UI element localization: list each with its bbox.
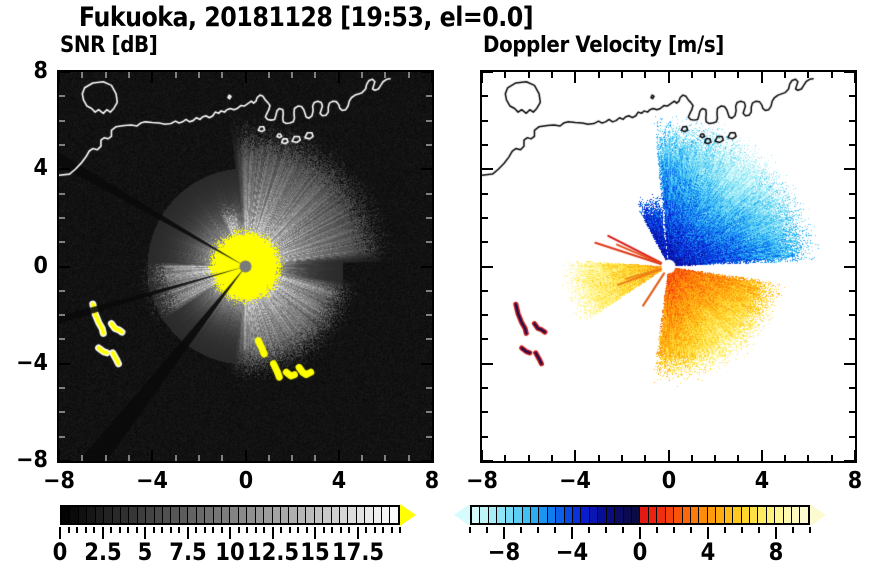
- y-major-tick: [59, 460, 70, 462]
- x-minor-tick: [737, 455, 739, 461]
- colorbar-cell: [113, 507, 121, 523]
- colorbar-cell: [539, 507, 547, 523]
- y-minor-tick: [426, 338, 432, 340]
- colorbar-cell: [480, 507, 488, 523]
- figure-title: Fukuoka, 20181128 [19:53, el=0.0]: [37, 2, 576, 33]
- x-axis-label-snr-0: −8: [37, 468, 82, 494]
- y-major-tick: [421, 266, 432, 268]
- y-major-tick: [421, 168, 432, 170]
- y-minor-tick: [426, 144, 432, 146]
- colorbar-minor-tick: [537, 527, 539, 533]
- x-minor-tick: [268, 455, 270, 461]
- radar-figure: Fukuoka, 20181128 [19:53, el=0.0] SNR [d…: [0, 0, 870, 570]
- colorbar-cell: [239, 507, 247, 523]
- y-minor-tick: [482, 241, 488, 243]
- snr-radar-image: [59, 72, 432, 461]
- colorbar-minor-tick: [673, 527, 675, 533]
- colorbar-minor-tick: [792, 527, 794, 533]
- y-major-tick: [421, 363, 432, 365]
- y-minor-tick: [482, 411, 488, 413]
- velocity-colorbar-under-arrow: [454, 504, 470, 526]
- x-major-tick: [854, 72, 856, 83]
- velocity-colorbar-over-arrow: [810, 504, 826, 526]
- colorbar-cell: [640, 507, 648, 523]
- colorbar-minor-tick: [246, 527, 248, 533]
- colorbar-minor-tick: [391, 527, 393, 533]
- colorbar-cell: [306, 507, 314, 523]
- y-minor-tick: [849, 338, 855, 340]
- colorbar-cell: [222, 507, 230, 523]
- x-minor-tick: [551, 72, 553, 78]
- colorbar-cell: [708, 507, 716, 523]
- y-minor-tick: [426, 387, 432, 389]
- colorbar-minor-tick: [306, 527, 308, 533]
- snr-colorbar-over-arrow: [400, 504, 416, 526]
- y-minor-tick: [426, 314, 432, 316]
- colorbar-cell: [205, 507, 213, 523]
- x-minor-tick: [408, 455, 410, 461]
- x-minor-tick: [528, 72, 530, 78]
- x-minor-tick: [737, 72, 739, 78]
- y-major-tick: [844, 363, 855, 365]
- y-minor-tick: [59, 314, 65, 316]
- colorbar-minor-tick: [170, 527, 172, 533]
- colorbar-cell: [163, 507, 171, 523]
- x-axis-label-snr-1: −4: [130, 468, 175, 494]
- colorbar-cell: [699, 507, 707, 523]
- x-minor-tick: [598, 72, 600, 78]
- snr-colorbar-gradient: [60, 505, 400, 525]
- y-minor-tick: [59, 290, 65, 292]
- colorbar-minor-tick: [136, 527, 138, 533]
- colorbar-cell: [247, 507, 255, 523]
- x-major-tick: [668, 72, 670, 83]
- x-axis-label-vel-2: 0: [646, 468, 691, 494]
- x-axis-label-snr-3: 4: [316, 468, 361, 494]
- colorbar-cell: [683, 507, 691, 523]
- x-minor-tick: [128, 455, 130, 461]
- x-minor-tick: [314, 72, 316, 78]
- y-major-tick: [844, 168, 855, 170]
- colorbar-cell: [289, 507, 297, 523]
- colorbar-minor-tick: [195, 527, 197, 533]
- colorbar-cell: [767, 507, 775, 523]
- colorbar-cell: [155, 507, 163, 523]
- x-minor-tick: [291, 455, 293, 461]
- x-minor-tick: [81, 72, 83, 78]
- y-major-tick: [482, 168, 493, 170]
- y-minor-tick: [59, 436, 65, 438]
- y-minor-tick: [482, 387, 488, 389]
- colorbar-minor-tick: [399, 527, 401, 533]
- plot-velocity[interactable]: [480, 70, 857, 463]
- x-minor-tick: [221, 72, 223, 78]
- x-minor-tick: [175, 455, 177, 461]
- x-minor-tick: [384, 455, 386, 461]
- colorbar-minor-tick: [809, 527, 811, 533]
- y-minor-tick: [849, 120, 855, 122]
- colorbar-cell: [742, 507, 750, 523]
- colorbar-minor-tick: [289, 527, 291, 533]
- x-minor-tick: [504, 455, 506, 461]
- x-minor-tick: [198, 72, 200, 78]
- y-minor-tick: [849, 217, 855, 219]
- colorbar-minor-tick: [622, 527, 624, 533]
- colorbar-cell: [230, 507, 238, 523]
- colorbar-minor-tick: [758, 527, 760, 533]
- colorbar-cell: [506, 507, 514, 523]
- x-axis-label-vel-1: −4: [553, 468, 598, 494]
- x-minor-tick: [528, 455, 530, 461]
- colorbar-minor-tick: [204, 527, 206, 533]
- colorbar-cell: [792, 507, 800, 523]
- x-minor-tick: [504, 72, 506, 78]
- colorbar-minor-tick: [263, 527, 265, 533]
- x-axis-label-snr-2: 0: [223, 468, 268, 494]
- panel-title-velocity: Doppler Velocity [m/s]: [483, 33, 724, 58]
- x-minor-tick: [221, 455, 223, 461]
- colorbar-minor-tick: [68, 527, 70, 533]
- x-minor-tick: [831, 455, 833, 461]
- y-minor-tick: [426, 120, 432, 122]
- x-minor-tick: [105, 455, 107, 461]
- colorbar-cell: [348, 507, 356, 523]
- colorbar-cell: [514, 507, 522, 523]
- colorbar-minor-tick: [486, 527, 488, 533]
- y-major-tick: [482, 363, 493, 365]
- colorbar-minor-tick: [93, 527, 95, 533]
- y-minor-tick: [849, 241, 855, 243]
- y-major-tick: [482, 460, 493, 462]
- colorbar-cell: [750, 507, 758, 523]
- y-minor-tick: [482, 338, 488, 340]
- x-minor-tick: [105, 72, 107, 78]
- x-minor-tick: [714, 455, 716, 461]
- y-minor-tick: [59, 193, 65, 195]
- x-minor-tick: [621, 72, 623, 78]
- y-axis-label-snr-2: 0: [10, 253, 48, 279]
- y-major-tick: [59, 71, 70, 73]
- y-minor-tick: [849, 144, 855, 146]
- y-minor-tick: [59, 411, 65, 413]
- y-minor-tick: [849, 314, 855, 316]
- x-major-tick: [151, 72, 153, 83]
- colorbar-cell: [121, 507, 129, 523]
- colorbar-cell: [197, 507, 205, 523]
- x-minor-tick: [408, 72, 410, 78]
- x-major-tick: [574, 450, 576, 461]
- colorbar-minor-tick: [741, 527, 743, 533]
- colorbar-cell: [666, 507, 674, 523]
- colorbar-minor-tick: [221, 527, 223, 533]
- y-minor-tick: [849, 436, 855, 438]
- y-minor-tick: [426, 290, 432, 292]
- x-minor-tick: [128, 72, 130, 78]
- colorbar-cell: [691, 507, 699, 523]
- velocity-radar-image: [482, 72, 855, 461]
- y-major-tick: [482, 266, 493, 268]
- y-major-tick: [59, 266, 70, 268]
- velocity-colorbar[interactable]: [470, 505, 810, 529]
- velocity-colorbar-label-4: 8: [745, 538, 807, 566]
- x-major-tick: [574, 72, 576, 83]
- colorbar-cell: [598, 507, 606, 523]
- colorbar-cell: [87, 507, 95, 523]
- colorbar-cell: [624, 507, 632, 523]
- colorbar-cell: [581, 507, 589, 523]
- colorbar-cell: [758, 507, 766, 523]
- velocity-colorbar-label-1: −4: [541, 538, 603, 566]
- colorbar-minor-tick: [724, 527, 726, 533]
- colorbar-cell: [523, 507, 531, 523]
- colorbar-minor-tick: [119, 527, 121, 533]
- y-minor-tick: [849, 95, 855, 97]
- x-axis-label-vel-0: −8: [460, 468, 505, 494]
- y-axis-label-snr-1: −4: [10, 350, 48, 376]
- velocity-colorbar-gradient: [470, 505, 810, 525]
- colorbar-minor-tick: [588, 527, 590, 533]
- colorbar-cell: [315, 507, 323, 523]
- x-minor-tick: [361, 72, 363, 78]
- y-axis-label-snr-3: 4: [10, 155, 48, 181]
- colorbar-minor-tick: [280, 527, 282, 533]
- velocity-colorbar-label-0: −8: [473, 538, 535, 566]
- colorbar-minor-tick: [605, 527, 607, 533]
- colorbar-cell: [374, 507, 382, 523]
- colorbar-cell: [725, 507, 733, 523]
- colorbar-cell: [298, 507, 306, 523]
- colorbar-minor-tick: [255, 527, 257, 533]
- x-minor-tick: [784, 455, 786, 461]
- y-minor-tick: [849, 411, 855, 413]
- colorbar-cell: [365, 507, 373, 523]
- x-axis-label-snr-4: 8: [410, 468, 455, 494]
- colorbar-cell: [256, 507, 264, 523]
- colorbar-cell: [615, 507, 623, 523]
- colorbar-cell: [129, 507, 137, 523]
- colorbar-cell: [573, 507, 581, 523]
- colorbar-minor-tick: [297, 527, 299, 533]
- y-axis-label-snr-4: 8: [10, 58, 48, 84]
- y-minor-tick: [482, 95, 488, 97]
- colorbar-minor-tick: [76, 527, 78, 533]
- colorbar-cell: [180, 507, 188, 523]
- y-minor-tick: [482, 314, 488, 316]
- x-minor-tick: [831, 72, 833, 78]
- colorbar-minor-tick: [161, 527, 163, 533]
- y-minor-tick: [482, 144, 488, 146]
- x-minor-tick: [384, 72, 386, 78]
- colorbar-cell: [146, 507, 154, 523]
- x-minor-tick: [691, 72, 693, 78]
- colorbar-cell: [489, 507, 497, 523]
- x-minor-tick: [807, 455, 809, 461]
- x-minor-tick: [551, 455, 553, 461]
- colorbar-minor-tick: [656, 527, 658, 533]
- y-minor-tick: [59, 387, 65, 389]
- x-major-tick: [668, 450, 670, 461]
- colorbar-cell: [323, 507, 331, 523]
- colorbar-cell: [104, 507, 112, 523]
- colorbar-cell: [138, 507, 146, 523]
- colorbar-cell: [472, 507, 480, 523]
- x-minor-tick: [644, 72, 646, 78]
- colorbar-cell: [264, 507, 272, 523]
- y-minor-tick: [426, 95, 432, 97]
- x-minor-tick: [807, 72, 809, 78]
- snr-colorbar-label-7: 17.5: [327, 538, 389, 566]
- colorbar-minor-tick: [110, 527, 112, 533]
- y-major-tick: [844, 71, 855, 73]
- colorbar-cell: [556, 507, 564, 523]
- x-major-tick: [761, 450, 763, 461]
- y-major-tick: [844, 266, 855, 268]
- y-minor-tick: [482, 217, 488, 219]
- x-minor-tick: [361, 455, 363, 461]
- y-minor-tick: [482, 290, 488, 292]
- colorbar-minor-tick: [382, 527, 384, 533]
- y-major-tick: [59, 168, 70, 170]
- y-minor-tick: [59, 144, 65, 146]
- y-major-tick: [844, 460, 855, 462]
- x-minor-tick: [175, 72, 177, 78]
- x-minor-tick: [268, 72, 270, 78]
- colorbar-cell: [171, 507, 179, 523]
- colorbar-minor-tick: [323, 527, 325, 533]
- plot-snr[interactable]: [57, 70, 434, 463]
- colorbar-cell: [784, 507, 792, 523]
- x-minor-tick: [621, 455, 623, 461]
- colorbar-cell: [548, 507, 556, 523]
- colorbar-minor-tick: [469, 527, 471, 533]
- colorbar-minor-tick: [331, 527, 333, 533]
- x-major-tick: [338, 450, 340, 461]
- colorbar-cell: [357, 507, 365, 523]
- colorbar-cell: [674, 507, 682, 523]
- x-axis-label-vel-4: 8: [833, 468, 870, 494]
- y-major-tick: [421, 460, 432, 462]
- colorbar-minor-tick: [178, 527, 180, 533]
- colorbar-cell: [340, 507, 348, 523]
- colorbar-minor-tick: [238, 527, 240, 533]
- colorbar-cell: [531, 507, 539, 523]
- x-minor-tick: [784, 72, 786, 78]
- x-major-tick: [761, 72, 763, 83]
- y-major-tick: [59, 363, 70, 365]
- colorbar-cell: [733, 507, 741, 523]
- colorbar-cell: [497, 507, 505, 523]
- colorbar-minor-tick: [85, 527, 87, 533]
- y-minor-tick: [426, 217, 432, 219]
- x-minor-tick: [598, 455, 600, 461]
- x-major-tick: [431, 72, 433, 83]
- y-major-tick: [482, 71, 493, 73]
- colorbar-minor-tick: [365, 527, 367, 533]
- colorbar-cell: [96, 507, 104, 523]
- colorbar-cell: [281, 507, 289, 523]
- colorbar-cell: [590, 507, 598, 523]
- colorbar-cell: [565, 507, 573, 523]
- x-minor-tick: [198, 455, 200, 461]
- colorbar-cell: [214, 507, 222, 523]
- colorbar-minor-tick: [212, 527, 214, 533]
- x-minor-tick: [81, 455, 83, 461]
- y-minor-tick: [849, 387, 855, 389]
- colorbar-cell: [657, 507, 665, 523]
- y-minor-tick: [482, 193, 488, 195]
- colorbar-minor-tick: [340, 527, 342, 533]
- y-minor-tick: [59, 217, 65, 219]
- y-minor-tick: [59, 95, 65, 97]
- y-minor-tick: [482, 436, 488, 438]
- y-major-tick: [421, 71, 432, 73]
- colorbar-cell: [79, 507, 87, 523]
- colorbar-minor-tick: [520, 527, 522, 533]
- colorbar-cell: [188, 507, 196, 523]
- x-major-tick: [151, 450, 153, 461]
- y-minor-tick: [59, 338, 65, 340]
- colorbar-minor-tick: [690, 527, 692, 533]
- y-minor-tick: [59, 241, 65, 243]
- y-minor-tick: [426, 241, 432, 243]
- velocity-colorbar-label-2: 0: [609, 538, 671, 566]
- y-minor-tick: [426, 436, 432, 438]
- colorbar-minor-tick: [374, 527, 376, 533]
- x-major-tick: [245, 72, 247, 83]
- y-minor-tick: [426, 193, 432, 195]
- colorbar-minor-tick: [127, 527, 129, 533]
- y-minor-tick: [59, 120, 65, 122]
- velocity-colorbar-label-3: 4: [677, 538, 739, 566]
- x-minor-tick: [291, 72, 293, 78]
- colorbar-cell: [332, 507, 340, 523]
- y-minor-tick: [482, 120, 488, 122]
- x-major-tick: [58, 72, 60, 83]
- y-minor-tick: [426, 411, 432, 413]
- snr-colorbar[interactable]: [60, 505, 400, 529]
- y-minor-tick: [849, 193, 855, 195]
- colorbar-cell: [632, 507, 640, 523]
- colorbar-minor-tick: [554, 527, 556, 533]
- colorbar-minor-tick: [348, 527, 350, 533]
- x-major-tick: [481, 72, 483, 83]
- colorbar-cell: [800, 507, 807, 523]
- colorbar-cell: [775, 507, 783, 523]
- colorbar-cell: [390, 507, 397, 523]
- colorbar-minor-tick: [153, 527, 155, 533]
- x-minor-tick: [691, 455, 693, 461]
- y-minor-tick: [849, 290, 855, 292]
- x-minor-tick: [714, 72, 716, 78]
- colorbar-cell: [716, 507, 724, 523]
- colorbar-cell: [649, 507, 657, 523]
- colorbar-cell: [273, 507, 281, 523]
- colorbar-cell: [62, 507, 70, 523]
- colorbar-cell: [607, 507, 615, 523]
- colorbar-cell: [382, 507, 390, 523]
- x-axis-label-vel-3: 4: [739, 468, 784, 494]
- panel-title-snr: SNR [dB]: [60, 33, 157, 58]
- x-major-tick: [338, 72, 340, 83]
- colorbar-cell: [70, 507, 78, 523]
- x-major-tick: [245, 450, 247, 461]
- x-minor-tick: [314, 455, 316, 461]
- x-minor-tick: [644, 455, 646, 461]
